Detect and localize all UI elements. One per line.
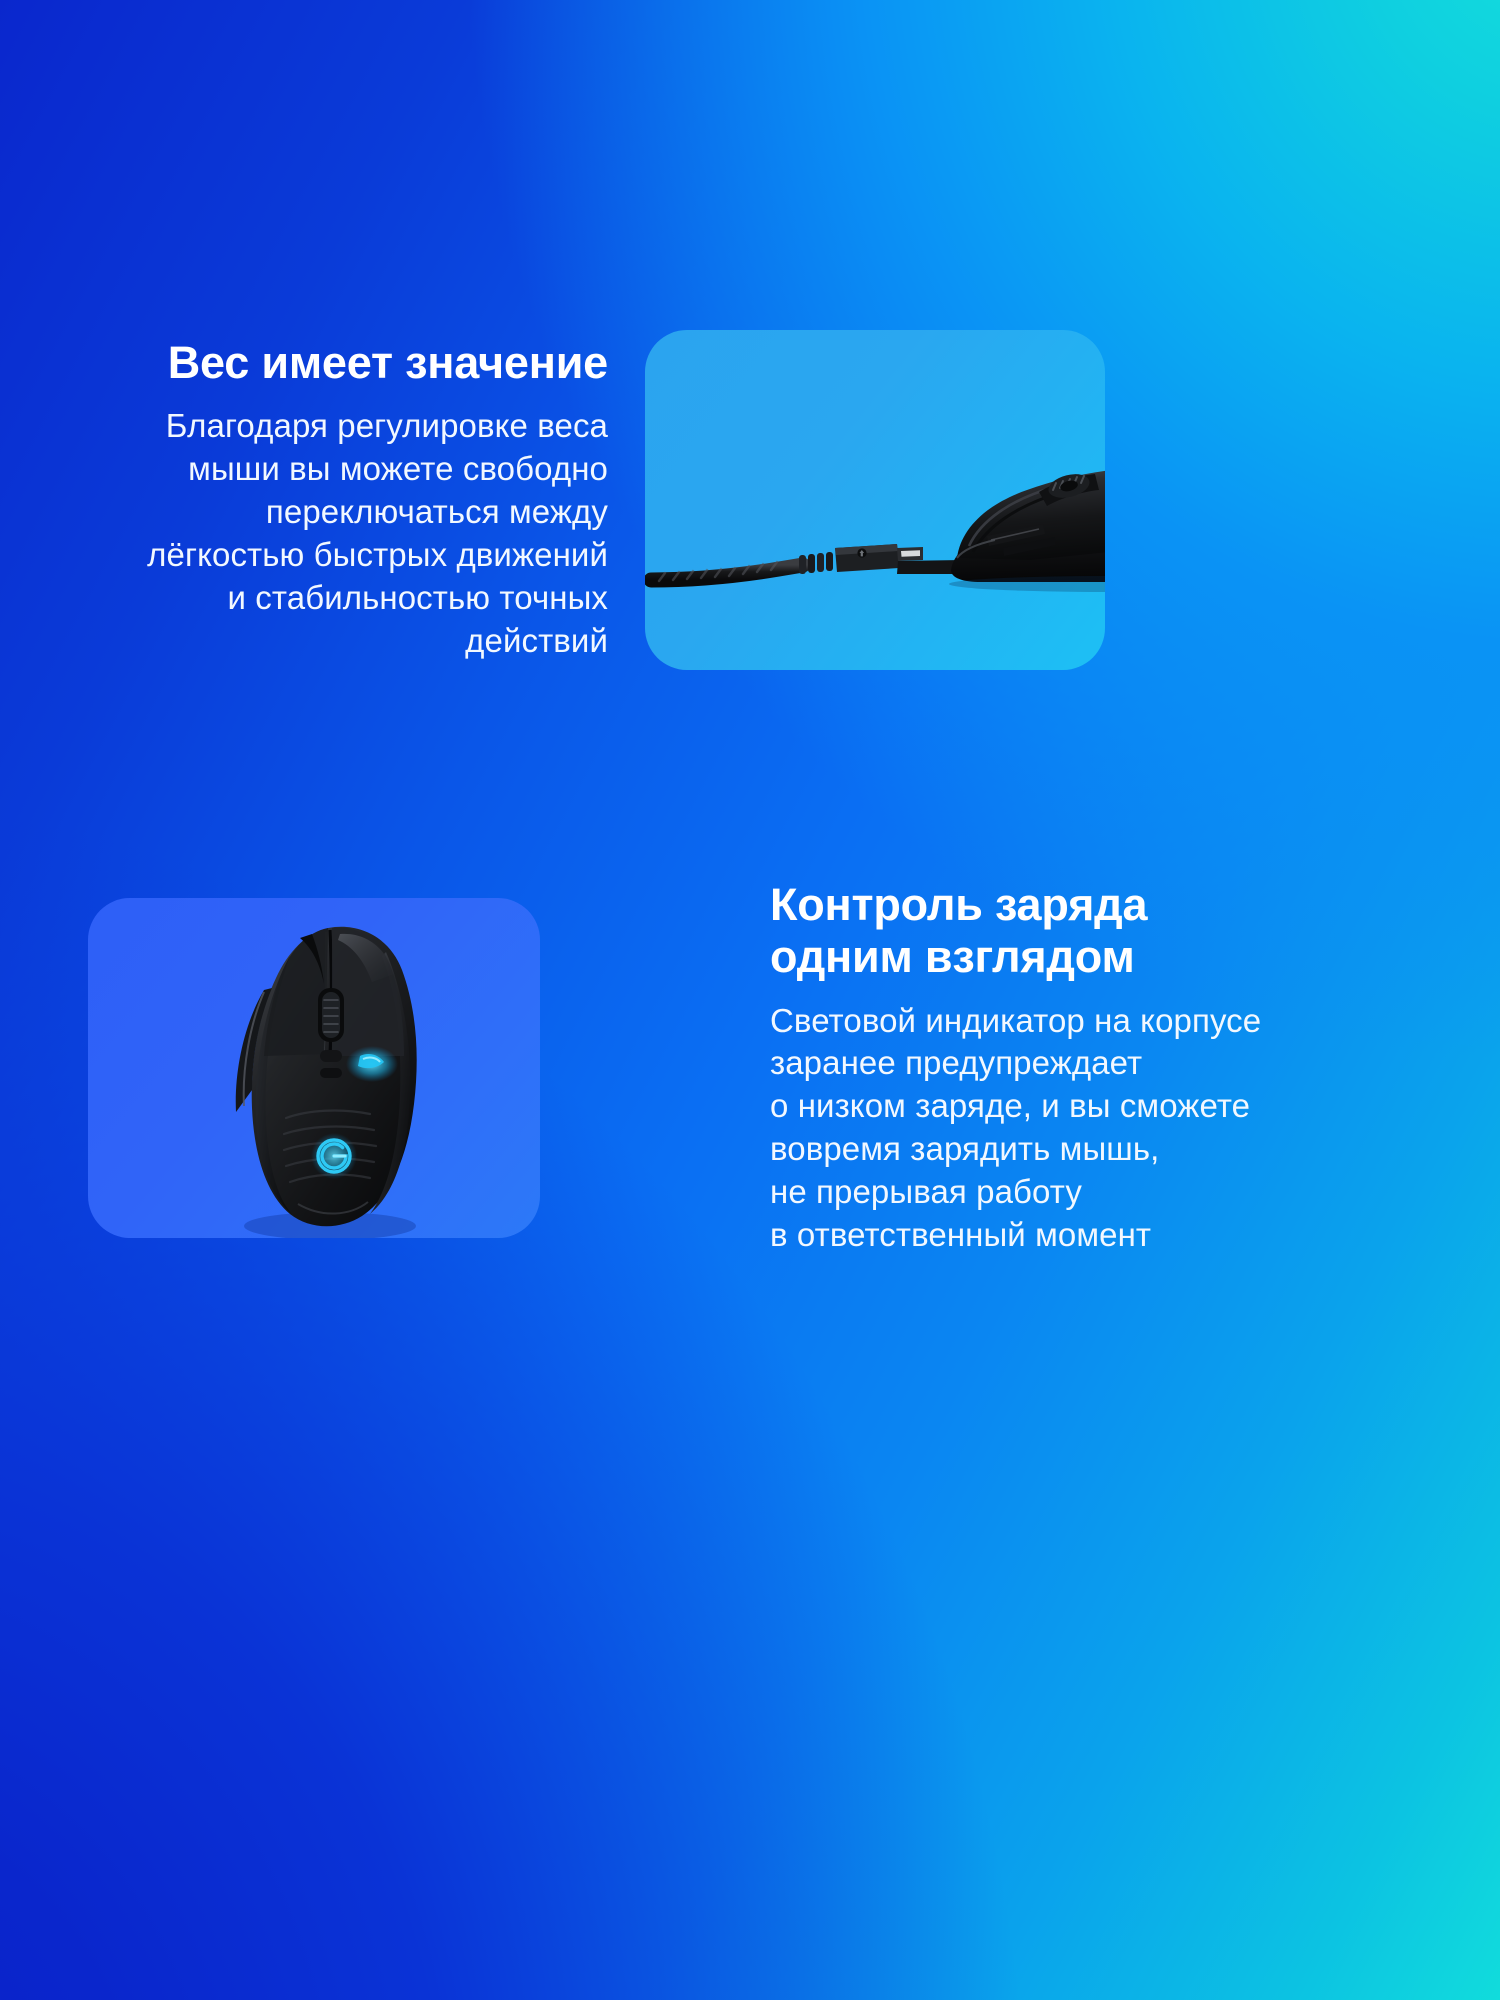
battery-body: Световой индикатор на корпусе заранее пр… <box>770 1000 1261 1257</box>
mouse-angled-illustration <box>88 898 540 1238</box>
battery-heading: Контроль заряда одним взглядом <box>770 879 1147 983</box>
battery-image-card <box>88 898 540 1238</box>
gaming-mouse-side-icon <box>651 448 1105 616</box>
weight-matters-heading: Вес имеет значение <box>168 337 608 389</box>
battery-text-block: Контроль заряда одним взглядом Световой … <box>770 879 1340 1257</box>
weight-matters-body: Благодаря регулировке веса мыши вы может… <box>147 405 608 662</box>
gaming-mouse-angled-icon <box>200 904 450 1238</box>
promo-page: Вес имеет значение Благодаря регулировке… <box>0 0 1500 2000</box>
weight-matters-text-block: Вес имеет значение Благодаря регулировке… <box>88 337 608 663</box>
weight-matters-image-card <box>645 330 1105 670</box>
mouse-side-illustration <box>645 330 1105 670</box>
